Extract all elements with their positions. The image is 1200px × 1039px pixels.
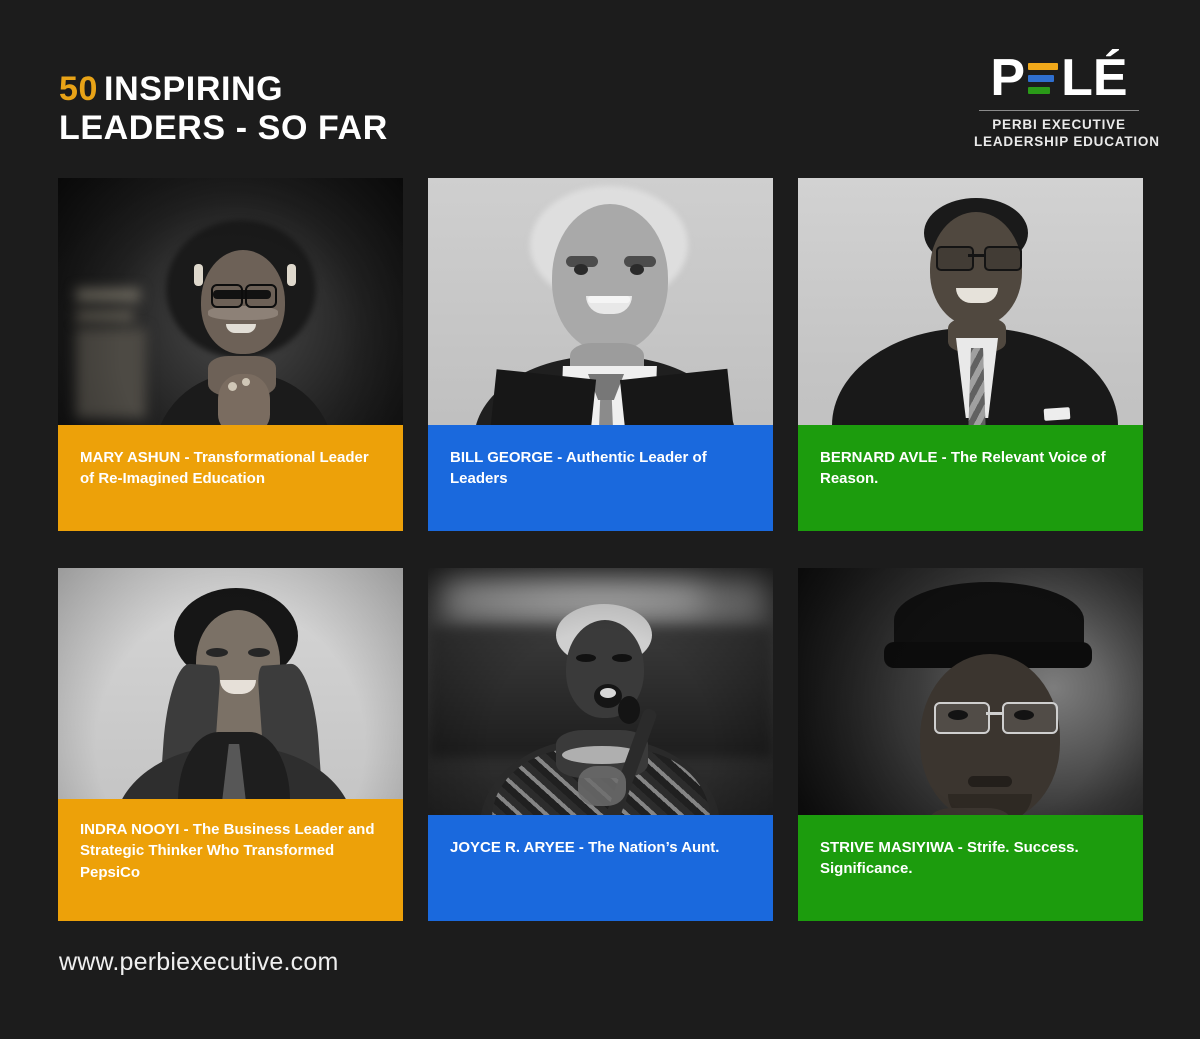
logo-divider — [979, 110, 1139, 111]
leader-caption-text: STRIVE MASIYIWA - Strife. Success. Signi… — [820, 839, 1079, 877]
leader-card[interactable]: INDRA NOOYI - The Business Leader and St… — [58, 568, 403, 921]
logo-letter-l: L — [1061, 52, 1093, 104]
leader-card[interactable]: MARY ASHUN - Transformational Leader of … — [58, 178, 403, 531]
leader-caption-text: BERNARD AVLE - The Relevant Voice of Rea… — [820, 449, 1106, 487]
leader-card[interactable]: BERNARD AVLE - The Relevant Voice of Rea… — [798, 178, 1143, 531]
leader-caption: BERNARD AVLE - The Relevant Voice of Rea… — [798, 425, 1143, 531]
brand-logo[interactable]: P L É PERBI EXECUTIVE LEADERSHIP EDUCATI… — [974, 52, 1144, 150]
leader-card[interactable]: BILL GEORGE - Authentic Leader of Leader… — [428, 178, 773, 531]
logo-letter-e-accent: É — [1093, 52, 1128, 104]
logo-subtitle-line-2: LEADERSHIP EDUCATION — [974, 133, 1144, 150]
leader-caption: STRIVE MASIYIWA - Strife. Success. Signi… — [798, 815, 1143, 921]
title-line-1-text: INSPIRING — [104, 70, 283, 108]
header: 50INSPIRING LEADERS - SO FAR P L É PERBI… — [0, 0, 1200, 175]
three-bar-e-icon — [1028, 52, 1058, 104]
poster-canvas: 50INSPIRING LEADERS - SO FAR P L É PERBI… — [0, 0, 1200, 1039]
logo-letter-p: P — [990, 52, 1025, 104]
leader-card[interactable]: JOYCE R. ARYEE - The Nation’s Aunt. — [428, 568, 773, 921]
title-line-1: 50INSPIRING — [59, 70, 388, 109]
logo-bar-green — [1028, 87, 1050, 94]
leader-caption: JOYCE R. ARYEE - The Nation’s Aunt. — [428, 815, 773, 921]
leaders-grid: MARY ASHUN - Transformational Leader of … — [58, 178, 1144, 921]
leader-card[interactable]: STRIVE MASIYIWA - Strife. Success. Signi… — [798, 568, 1143, 921]
title-number: 50 — [59, 70, 98, 108]
leader-caption: BILL GEORGE - Authentic Leader of Leader… — [428, 425, 773, 531]
page-title: 50INSPIRING LEADERS - SO FAR — [59, 70, 388, 149]
logo-wordmark: P L É — [974, 52, 1144, 104]
logo-subtitle-line-1: PERBI EXECUTIVE — [974, 116, 1144, 133]
title-line-2: LEADERS - SO FAR — [59, 109, 388, 148]
leader-caption-text: MARY ASHUN - Transformational Leader of … — [80, 449, 369, 487]
leader-caption: INDRA NOOYI - The Business Leader and St… — [58, 799, 403, 921]
leader-caption-text: INDRA NOOYI - The Business Leader and St… — [80, 821, 375, 881]
website-url[interactable]: www.perbiexecutive.com — [59, 948, 339, 977]
logo-bar-blue — [1028, 75, 1054, 82]
leader-caption-text: JOYCE R. ARYEE - The Nation’s Aunt. — [450, 839, 719, 856]
leader-caption-text: BILL GEORGE - Authentic Leader of Leader… — [450, 449, 707, 487]
leader-caption: MARY ASHUN - Transformational Leader of … — [58, 425, 403, 531]
logo-bar-orange — [1028, 63, 1058, 70]
